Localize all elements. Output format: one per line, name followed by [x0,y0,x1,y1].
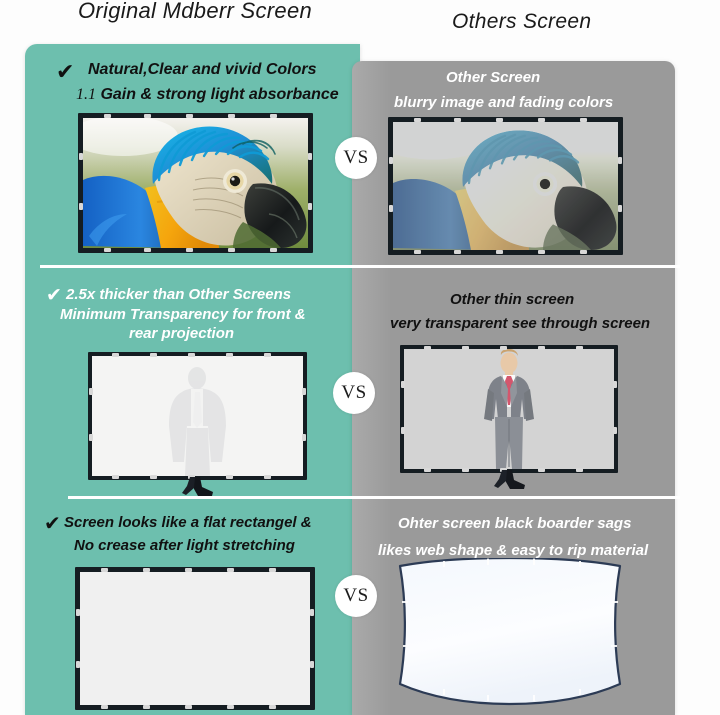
screen-tab [496,250,503,254]
screen-surface-opaque [92,356,303,476]
screen-tab [227,568,234,572]
vs-badge-row3: VS [335,575,377,617]
row3-right-line2: likes web shape & easy to rip material [378,542,648,559]
screen-opaque-with-hidden-person [88,352,307,480]
row2-right-line1: Other thin screen [450,291,574,308]
gain-text: Gain & strong light absorbance [100,86,338,103]
row1-right-line1: Other Screen [446,69,540,86]
screen-tab [186,248,193,252]
screen-tab [143,705,150,709]
checkmark-icon-row3: ✔ [44,514,61,534]
screen-tab [144,248,151,252]
right-column-title: Others Screen [452,10,591,34]
screen-tab [76,661,80,668]
screen-tab [104,114,111,118]
screen-tab [618,157,622,164]
screen-tab [302,434,306,441]
screen-tab [79,153,83,160]
screen-tab [89,388,93,395]
screen-vivid-parrot [78,113,313,253]
screen-tab [576,468,583,472]
screen-tab [101,705,108,709]
screen-tab [79,203,83,210]
screen-tab [462,468,469,472]
left-column-title: Original Mdberr Screen [78,0,312,24]
screen-tab [264,353,271,357]
checkmark-icon-row2: ✔ [46,286,62,305]
screen-tab [226,353,233,357]
screen-tab [186,114,193,118]
man-in-suit-visible [404,349,614,469]
screen-tab [150,475,157,479]
screen-tab [144,114,151,118]
screen-tab [401,427,405,434]
screen-tab [76,609,80,616]
row-divider-1 [40,265,680,268]
screen-tab [308,153,312,160]
shoes-below-transparent-screen [492,470,528,490]
vs-badge-row1: VS [335,137,377,179]
screen-tab [576,346,583,350]
vs-badge-row2: VS [333,372,375,414]
row2-left-line2: Minimum Transparency for front & [60,306,306,323]
row3-left-line1: Screen looks like a flat rectangel & [64,514,312,531]
screen-tab [228,248,235,252]
screen-tab [310,661,314,668]
row2-left-line1: 2.5x thicker than Other Screens [66,286,291,303]
screen-faded-parrot [388,117,623,255]
screen-tab [538,250,545,254]
screen-tab [302,388,306,395]
screen-tab [424,346,431,350]
row-divider-2 [68,496,680,499]
screen-tab [269,705,276,709]
row2-left-line3: rear projection [129,325,234,342]
screen-tab [185,705,192,709]
row3-right-line1: Ohter screen black boarder sags [398,515,631,532]
screen-tab [401,381,405,388]
screen-tab [89,434,93,441]
screen-tab [150,353,157,357]
screen-tab [414,250,421,254]
screen-transparent-with-visible-person [400,345,618,473]
screen-tab [454,250,461,254]
screen-tab [389,157,393,164]
screen-tab [310,609,314,616]
screen-tab [613,381,617,388]
macaw-parrot-illustration [83,118,308,248]
screen-tab [188,353,195,357]
screen-tab [104,248,111,252]
row1-left-line1: Natural,Clear and vivid Colors [88,61,317,79]
screen-tab [538,468,545,472]
screen-tab [454,118,461,122]
screen-surface-faded [393,122,618,250]
screen-sagging-web-shape [392,558,629,710]
screen-tab [228,114,235,118]
screen-tab [618,205,622,212]
screen-tab [227,705,234,709]
screen-tab [538,346,545,350]
screen-tab [112,475,119,479]
screen-tab [185,568,192,572]
shoes-below-opaque-screen [180,477,216,497]
screen-tab [580,250,587,254]
screen-tab [500,346,507,350]
screen-tab [112,353,119,357]
screen-tab [424,468,431,472]
macaw-parrot-illustration-faded [393,122,618,250]
screen-tab [613,427,617,434]
row2-right-line2: very transparent see through screen [390,315,650,332]
screen-tab [538,118,545,122]
screen-tab [143,568,150,572]
screen-flat-rectangle [75,567,315,710]
screen-tab [496,118,503,122]
man-silhouette-faint [92,356,303,476]
screen-tab [580,118,587,122]
screen-tab [264,475,271,479]
screen-tab [270,248,277,252]
screen-tab [462,346,469,350]
screen-tab [389,205,393,212]
screen-surface-transparent [404,349,614,469]
screen-tab [270,114,277,118]
checkmark-icon-row1: ✔ [56,61,74,83]
screen-tab [269,568,276,572]
screen-surface-vivid [83,118,308,248]
gain-value: 1.1 [76,86,96,103]
row1-right-line2: blurry image and fading colors [394,94,613,111]
screen-surface-flat [80,572,310,705]
row1-left-line2: 1.1 Gain & strong light absorbance [76,86,339,104]
screen-tab [226,475,233,479]
screen-tab [308,203,312,210]
screen-tab [414,118,421,122]
screen-tab [101,568,108,572]
infographic-canvas: Original Mdberr Screen Others Screen ✔ N… [0,0,720,715]
sag-screen-body [400,558,620,704]
row3-left-line2: No crease after light stretching [74,537,295,554]
